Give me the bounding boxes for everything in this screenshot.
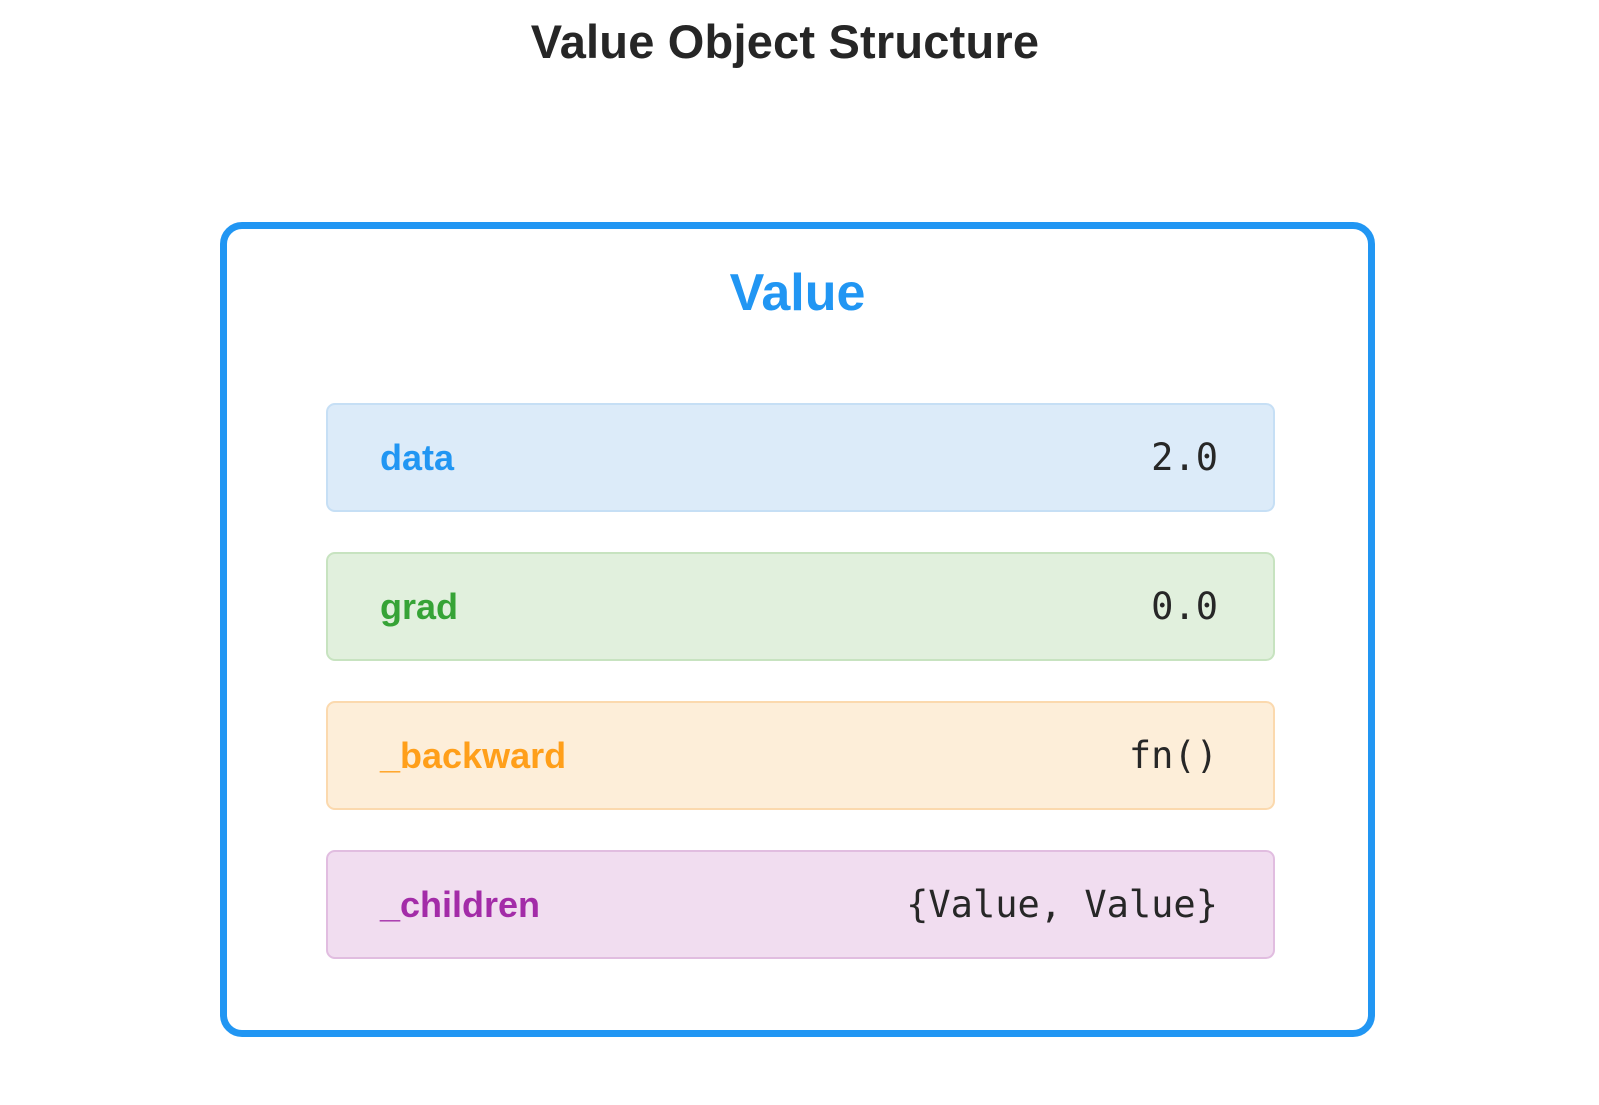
diagram-canvas: Value Object Structure Value data 2.0 gr…	[0, 0, 1599, 1105]
field-row-grad: grad 0.0	[326, 552, 1275, 661]
field-value-data: 2.0	[1151, 439, 1218, 476]
field-list: data 2.0 grad 0.0 _backward fn() _childr…	[326, 403, 1275, 959]
field-key-backward: _backward	[380, 738, 566, 774]
field-row-backward: _backward fn()	[326, 701, 1275, 810]
field-row-data: data 2.0	[326, 403, 1275, 512]
field-value-grad: 0.0	[1151, 588, 1218, 625]
field-value-children: {Value, Value}	[906, 886, 1218, 923]
field-row-children: _children {Value, Value}	[326, 850, 1275, 959]
class-name-label: Value	[227, 265, 1368, 322]
field-value-backward: fn()	[1129, 737, 1218, 774]
field-key-grad: grad	[380, 589, 458, 625]
field-key-data: data	[380, 440, 454, 476]
field-key-children: _children	[380, 887, 540, 923]
value-object-card: Value data 2.0 grad 0.0 _backward fn() _…	[220, 222, 1375, 1037]
page-title: Value Object Structure	[0, 14, 1570, 69]
